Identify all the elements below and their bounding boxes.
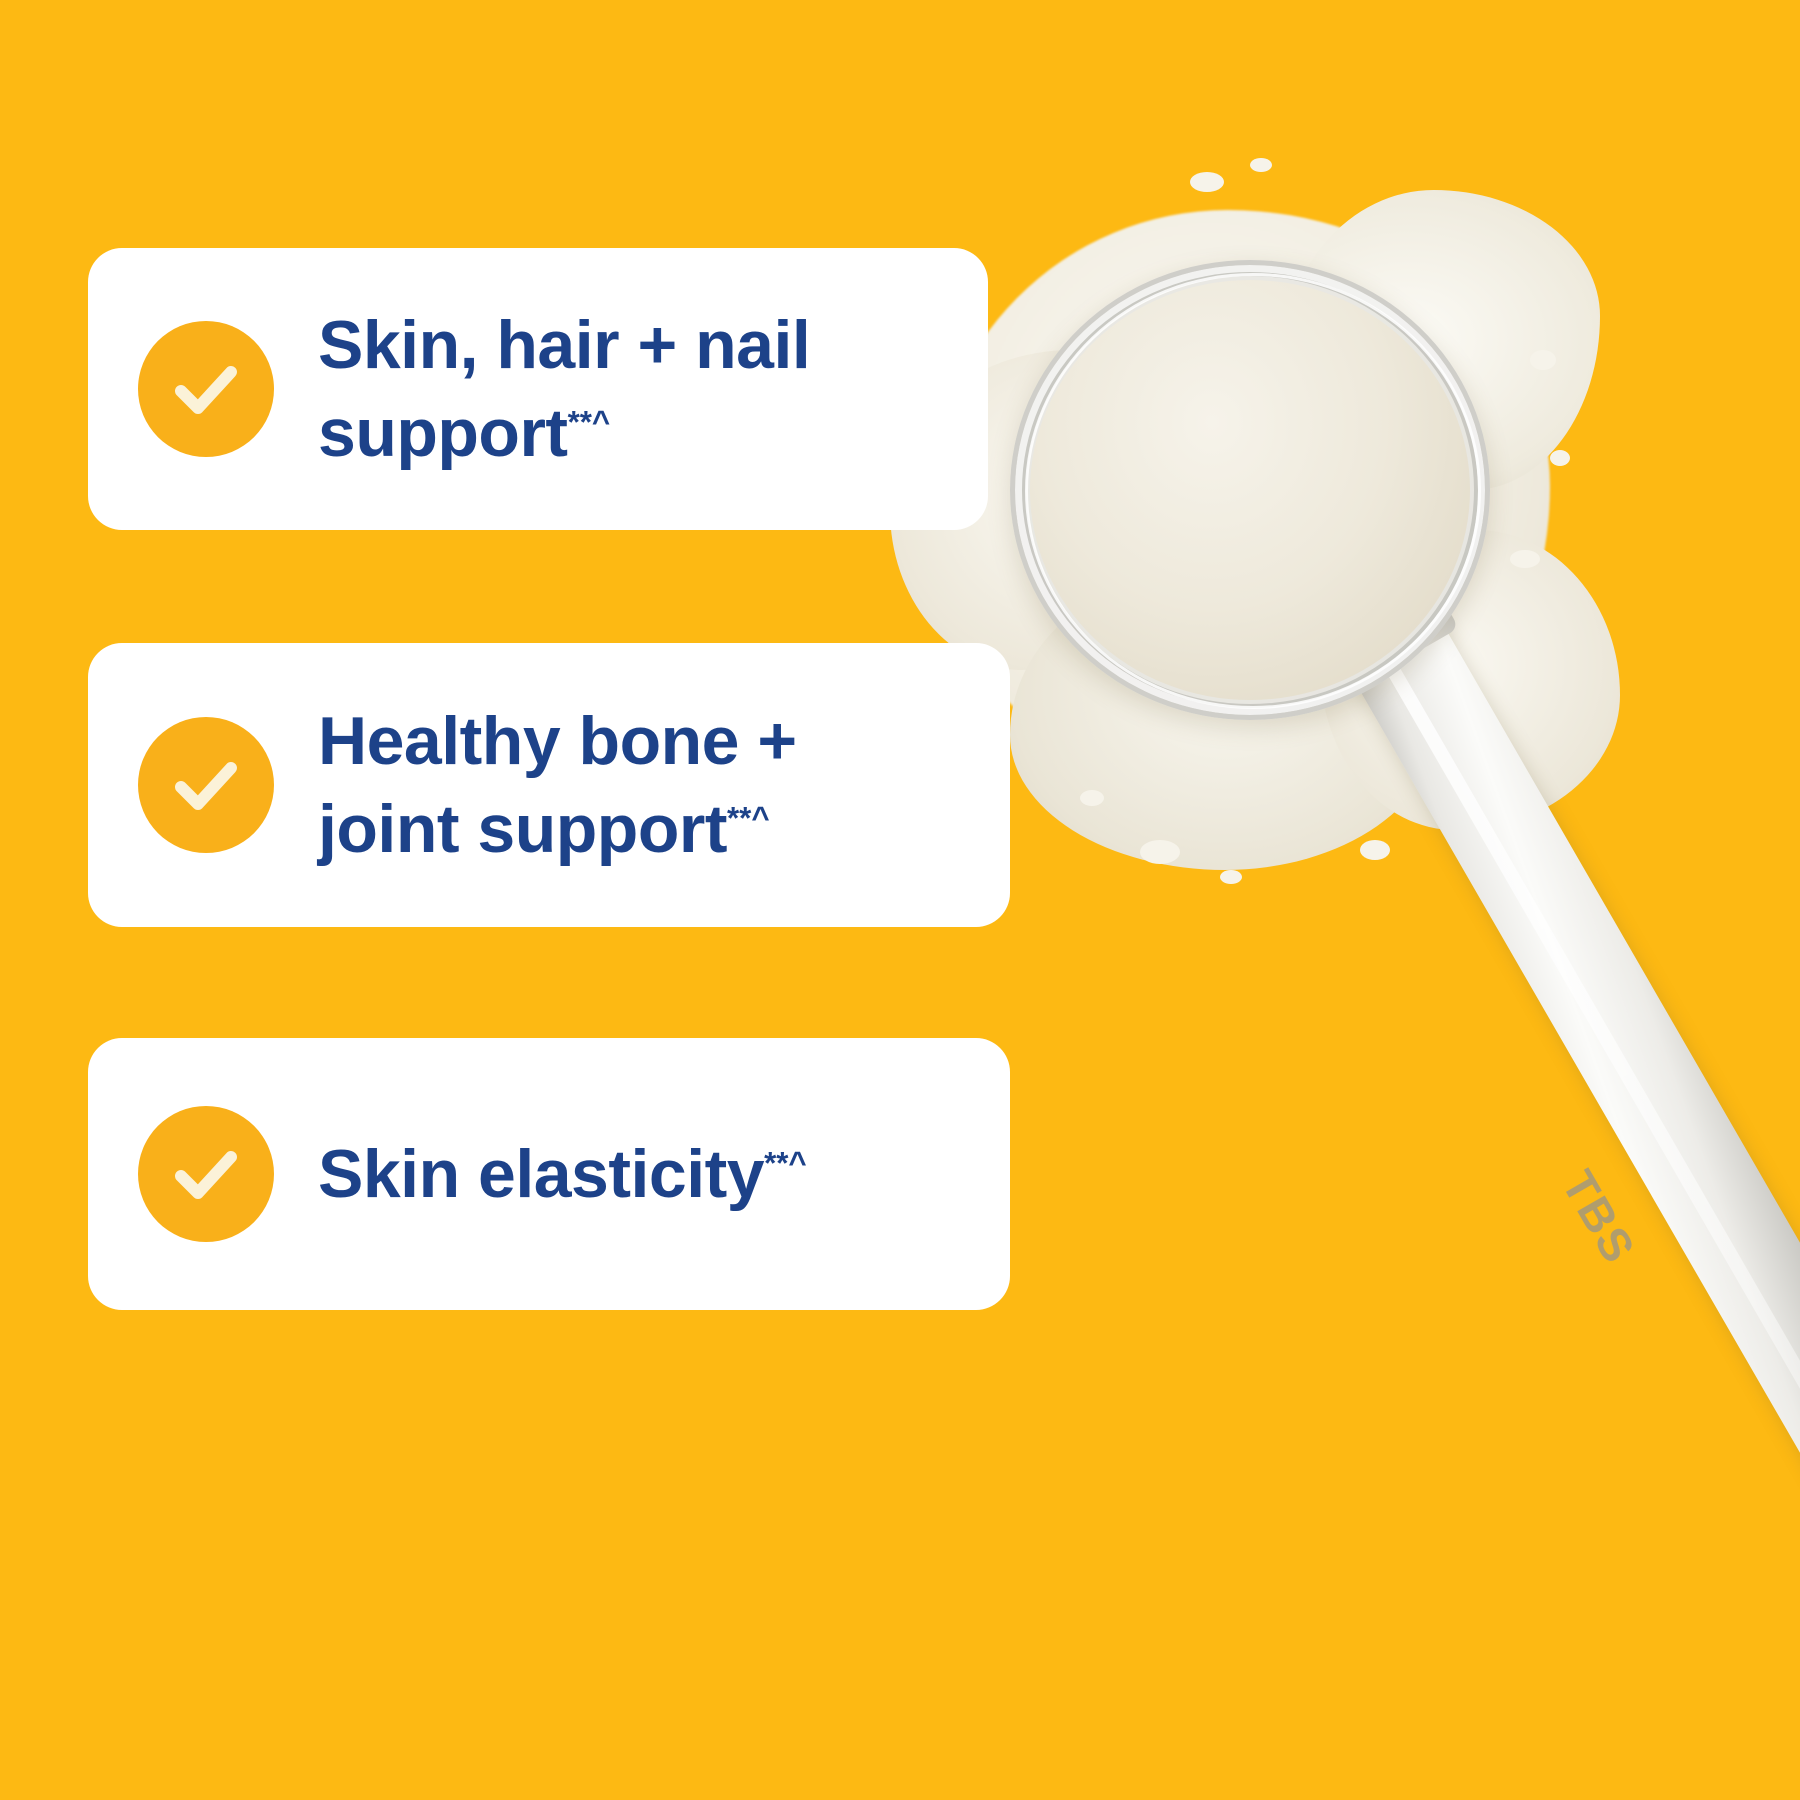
benefit-label: Skin elasticity**^ [318, 1130, 807, 1218]
benefit-label: Healthy bone + joint support**^ [318, 697, 797, 874]
scoop-handle-text: TBS [1551, 1161, 1647, 1273]
product-photo: TBS [880, 0, 1800, 1800]
powder-speck [1530, 350, 1556, 370]
powder-speck [1140, 840, 1180, 864]
scoop-rim-highlight [1025, 273, 1481, 709]
benefit-line-2: support [318, 395, 568, 471]
benefit-card-bone-joint[interactable]: Healthy bone + joint support**^ [88, 643, 1010, 927]
benefit-card-skin-elasticity[interactable]: Skin elasticity**^ [88, 1038, 1010, 1310]
powder-speck [1080, 790, 1104, 806]
benefit-footnote: **^ [568, 404, 611, 439]
check-icon [138, 321, 274, 457]
benefit-label: Skin, hair + nail support**^ [318, 301, 810, 478]
benefit-line-1: Skin, hair + nail [318, 307, 810, 383]
benefit-line-1: Healthy bone + [318, 703, 797, 779]
product-benefits-graphic: TBS Skin, hair + nail support**^ Healthy… [0, 0, 1800, 1800]
powder-speck [1220, 870, 1242, 884]
benefit-footnote: **^ [764, 1145, 807, 1180]
scoop-bowl [1010, 260, 1490, 720]
benefit-footnote: **^ [727, 800, 770, 835]
powder-speck [1250, 158, 1272, 172]
measuring-scoop [1010, 260, 1490, 730]
benefit-card-skin-hair-nail[interactable]: Skin, hair + nail support**^ [88, 248, 988, 530]
powder-speck [1510, 550, 1540, 568]
powder-speck [1360, 840, 1390, 860]
benefit-line-2: joint support [318, 791, 727, 867]
powder-speck [1550, 450, 1570, 466]
check-icon [138, 717, 274, 853]
check-icon [138, 1106, 274, 1242]
powder-speck [1190, 172, 1224, 192]
benefit-line-1: Skin elasticity [318, 1136, 764, 1212]
